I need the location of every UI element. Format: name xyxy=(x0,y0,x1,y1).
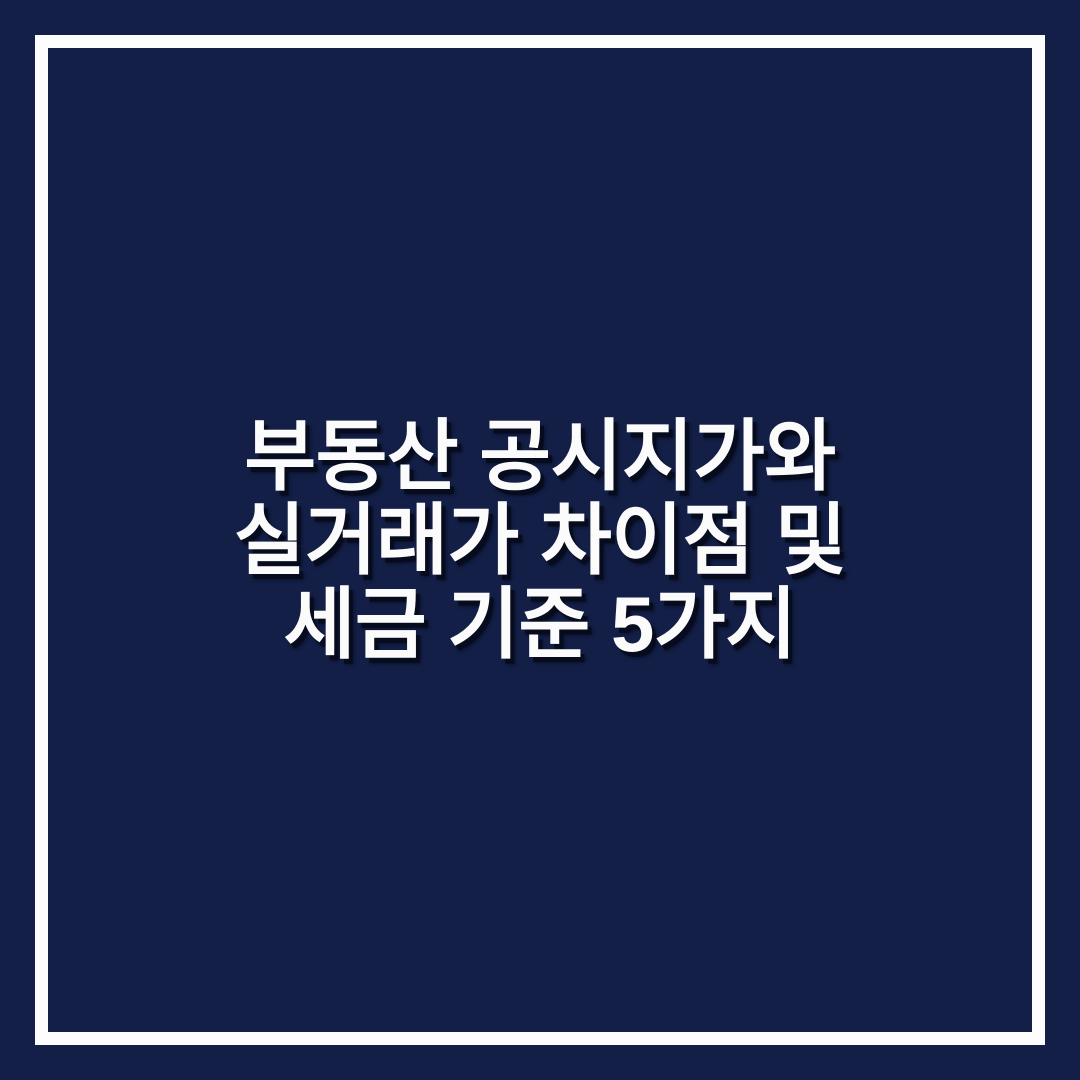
poster-canvas: 부동산 공시지가와 실거래가 차이점 및 세금 기준 5가지 xyxy=(0,0,1080,1080)
title-line-1: 부동산 공시지가와 xyxy=(244,414,835,498)
title-line-2: 실거래가 차이점 및 xyxy=(234,498,846,582)
title-block: 부동산 공시지가와 실거래가 차이점 및 세금 기준 5가지 xyxy=(0,0,1080,1080)
title-line-3: 세금 기준 5가지 xyxy=(284,582,797,666)
